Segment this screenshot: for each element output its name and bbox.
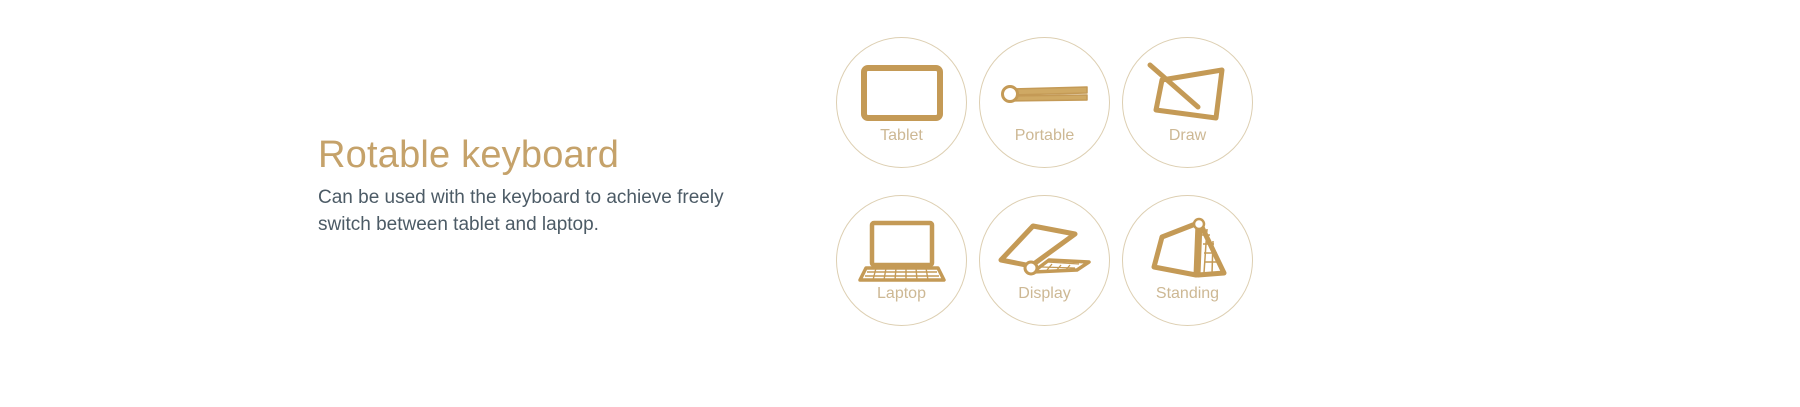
display-mode-icon (997, 218, 1093, 284)
mode-circle: Display (979, 195, 1110, 326)
mode-circle: Laptop (836, 195, 967, 326)
mode-item-laptop[interactable]: Laptop (830, 186, 973, 334)
mode-label-standing: Standing (1123, 284, 1252, 304)
mode-item-standing[interactable]: Standing (1116, 186, 1259, 334)
standing-tent-icon (1140, 218, 1236, 284)
laptop-icon (854, 218, 950, 284)
mode-circle: Tablet (836, 37, 967, 168)
mode-label-draw: Draw (1123, 126, 1252, 146)
mode-label-portable: Portable (980, 126, 1109, 146)
mode-label-tablet: Tablet (837, 126, 966, 146)
tablet-icon (854, 60, 950, 126)
usage-modes-grid: Tablet Portable (830, 28, 1259, 334)
rotable-keyboard-banner: Rotable keyboard Can be used with the ke… (0, 0, 1800, 407)
banner-text-block: Rotable keyboard Can be used with the ke… (318, 132, 788, 238)
portable-folded-icon (997, 60, 1093, 126)
draw-stylus-icon (1140, 60, 1236, 126)
mode-item-display[interactable]: Display (973, 186, 1116, 334)
mode-item-portable[interactable]: Portable (973, 28, 1116, 176)
mode-circle: Portable (979, 37, 1110, 168)
mode-item-tablet[interactable]: Tablet (830, 28, 973, 176)
mode-label-display: Display (980, 284, 1109, 304)
banner-subcopy: Can be used with the keyboard to achieve… (318, 184, 763, 238)
page-title: Rotable keyboard (318, 132, 788, 178)
mode-circle: Draw (1122, 37, 1253, 168)
mode-item-draw[interactable]: Draw (1116, 28, 1259, 176)
mode-label-laptop: Laptop (837, 284, 966, 304)
mode-circle: Standing (1122, 195, 1253, 326)
